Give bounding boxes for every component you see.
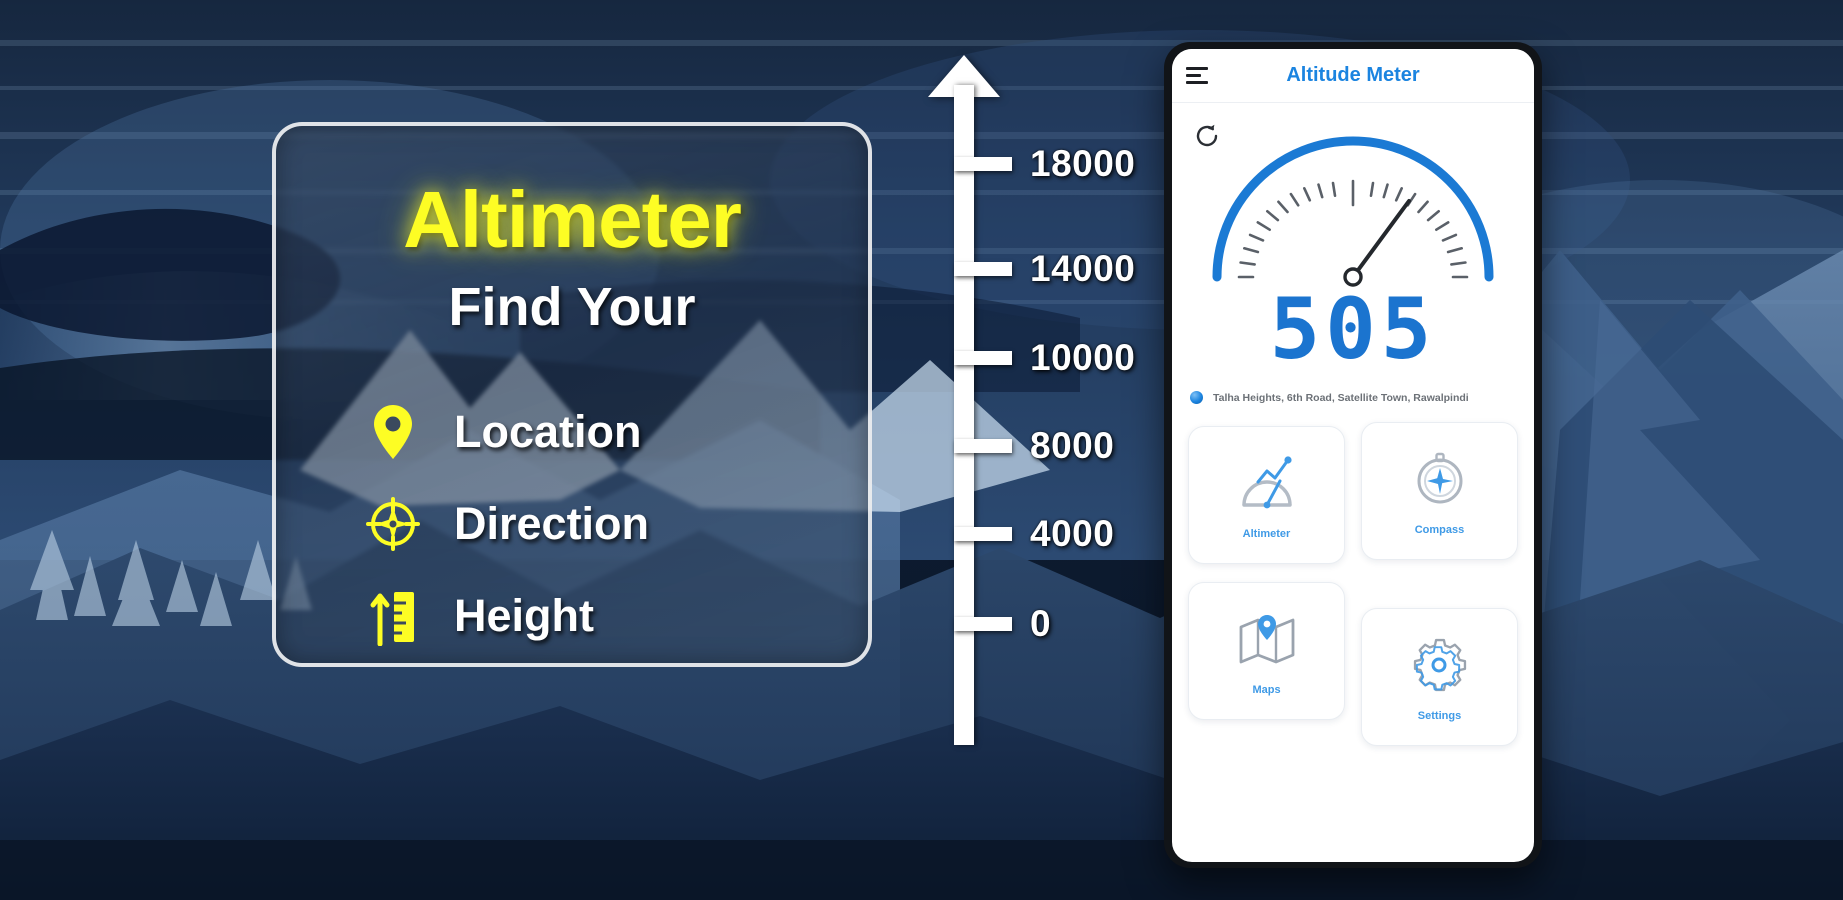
tick-mark (954, 527, 1012, 541)
hamburger-menu-icon[interactable] (1186, 67, 1208, 84)
tick-label: 14000 (1030, 248, 1135, 290)
tick-label: 8000 (1030, 425, 1114, 467)
feature-tile-grid: Altimeter Compass (1188, 426, 1518, 746)
tile-label: Settings (1418, 710, 1461, 722)
feature-location: Location (362, 386, 868, 478)
axis-tick-18000: 18000 (954, 143, 1135, 185)
tile-compass[interactable]: Compass (1361, 422, 1518, 560)
feature-label: Direction (454, 498, 649, 550)
tile-altimeter[interactable]: Altimeter (1188, 426, 1345, 564)
map-pin-icon (1236, 606, 1298, 672)
tick-label: 18000 (1030, 143, 1135, 185)
location-pin-icon (362, 401, 424, 463)
phone-screen: Altitude Meter (1172, 49, 1534, 862)
tile-label: Compass (1415, 524, 1465, 536)
feature-list: Location Direction (276, 386, 868, 662)
gauge-area (1172, 103, 1534, 293)
axis-tick-14000: 14000 (954, 248, 1135, 290)
tile-maps[interactable]: Maps (1188, 582, 1345, 720)
altitude-gauge (1203, 117, 1503, 294)
feature-label: Height (454, 590, 594, 642)
tick-mark (954, 157, 1012, 171)
app-bar: Altitude Meter (1172, 49, 1534, 103)
feature-height: Height (362, 570, 868, 662)
altimeter-gauge-icon (1236, 450, 1298, 516)
compass-rose-icon (362, 493, 424, 555)
phone-mockup: Altitude Meter (1164, 42, 1542, 868)
feature-label: Location (454, 406, 642, 458)
settings-gear-icon (1409, 632, 1471, 698)
tick-mark (954, 439, 1012, 453)
tile-settings[interactable]: Settings (1361, 608, 1518, 746)
tile-label: Maps (1252, 684, 1280, 696)
axis-tick-8000: 8000 (954, 425, 1114, 467)
ruler-height-icon (362, 585, 424, 647)
axis-tick-10000: 10000 (954, 337, 1135, 379)
tick-mark (954, 617, 1012, 631)
tick-label: 4000 (1030, 513, 1114, 555)
tick-mark (954, 351, 1012, 365)
location-row: Talha Heights, 6th Road, Satellite Town,… (1172, 371, 1534, 404)
compass-icon (1411, 446, 1469, 512)
location-dot-icon (1190, 391, 1203, 404)
tick-mark (954, 262, 1012, 276)
promo-card: Altimeter Find Your Location (272, 122, 872, 667)
tick-label: 0 (1030, 603, 1051, 645)
axis-tick-4000: 4000 (954, 513, 1114, 555)
feature-direction: Direction (362, 478, 868, 570)
promo-subtitle: Find Your (276, 276, 868, 338)
axis-tick-0: 0 (954, 603, 1051, 645)
page-title: Altimeter (276, 174, 868, 266)
tile-label: Altimeter (1243, 528, 1291, 540)
tick-label: 10000 (1030, 337, 1135, 379)
altitude-readout: 505 (1172, 287, 1534, 371)
location-address: Talha Heights, 6th Road, Satellite Town,… (1213, 392, 1469, 404)
app-store-feature-graphic: 18000 14000 10000 8000 4000 0 Altimeter … (0, 0, 1843, 900)
app-title: Altitude Meter (1172, 64, 1534, 87)
